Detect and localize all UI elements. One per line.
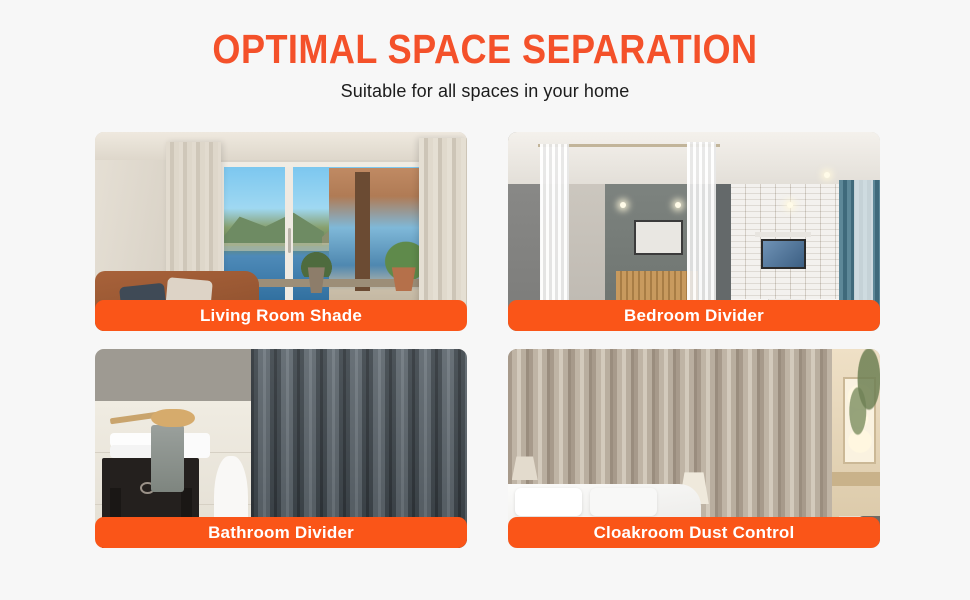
bath-brush-icon bbox=[151, 409, 196, 427]
palm-trunk-icon bbox=[355, 172, 370, 291]
card-label-bar: Bedroom Divider bbox=[508, 300, 880, 331]
ceiling-spotlight-icon bbox=[620, 202, 626, 208]
use-case-grid: Living Room Shade bbox=[95, 132, 880, 548]
mountain-far-icon bbox=[224, 208, 324, 246]
tv-shelf bbox=[755, 232, 811, 238]
card-label: Bathroom Divider bbox=[208, 524, 354, 541]
wall-upper-band bbox=[95, 349, 251, 401]
card-label: Living Room Shade bbox=[200, 307, 362, 324]
card-label-bar: Cloakroom Dust Control bbox=[508, 517, 880, 548]
card-bathroom-divider[interactable]: Bathroom Divider bbox=[95, 349, 467, 548]
page-title: OPTIMAL SPACE SEPARATION bbox=[58, 28, 912, 71]
card-cloakroom-dust-control[interactable]: Cloakroom Dust Control bbox=[508, 349, 880, 548]
framed-artwork bbox=[634, 220, 682, 256]
bed-pillow bbox=[590, 488, 657, 516]
folded-towel bbox=[110, 445, 155, 459]
card-living-room-shade[interactable]: Living Room Shade bbox=[95, 132, 467, 331]
card-label-bar: Bathroom Divider bbox=[95, 517, 467, 548]
ceiling bbox=[95, 132, 467, 160]
bed-pillow bbox=[515, 488, 582, 516]
page-subtitle: Suitable for all spaces in your home bbox=[0, 81, 970, 102]
card-label: Bedroom Divider bbox=[624, 307, 764, 324]
wall-tv-icon bbox=[761, 239, 806, 269]
vanity-desk bbox=[832, 472, 880, 486]
grey-hanging-towel bbox=[151, 425, 184, 493]
door-handle-icon bbox=[288, 228, 291, 254]
promo-banner: OPTIMAL SPACE SEPARATION Suitable for al… bbox=[0, 0, 970, 600]
card-label: Cloakroom Dust Control bbox=[594, 524, 795, 541]
header: OPTIMAL SPACE SEPARATION Suitable for al… bbox=[0, 0, 970, 102]
ceiling-spotlight-icon bbox=[824, 172, 830, 178]
ceiling-spotlight-icon bbox=[787, 202, 793, 208]
card-bedroom-divider[interactable]: Bedroom Divider bbox=[508, 132, 880, 331]
hanging-plant-icon bbox=[843, 349, 880, 449]
card-label-bar: Living Room Shade bbox=[95, 300, 467, 331]
